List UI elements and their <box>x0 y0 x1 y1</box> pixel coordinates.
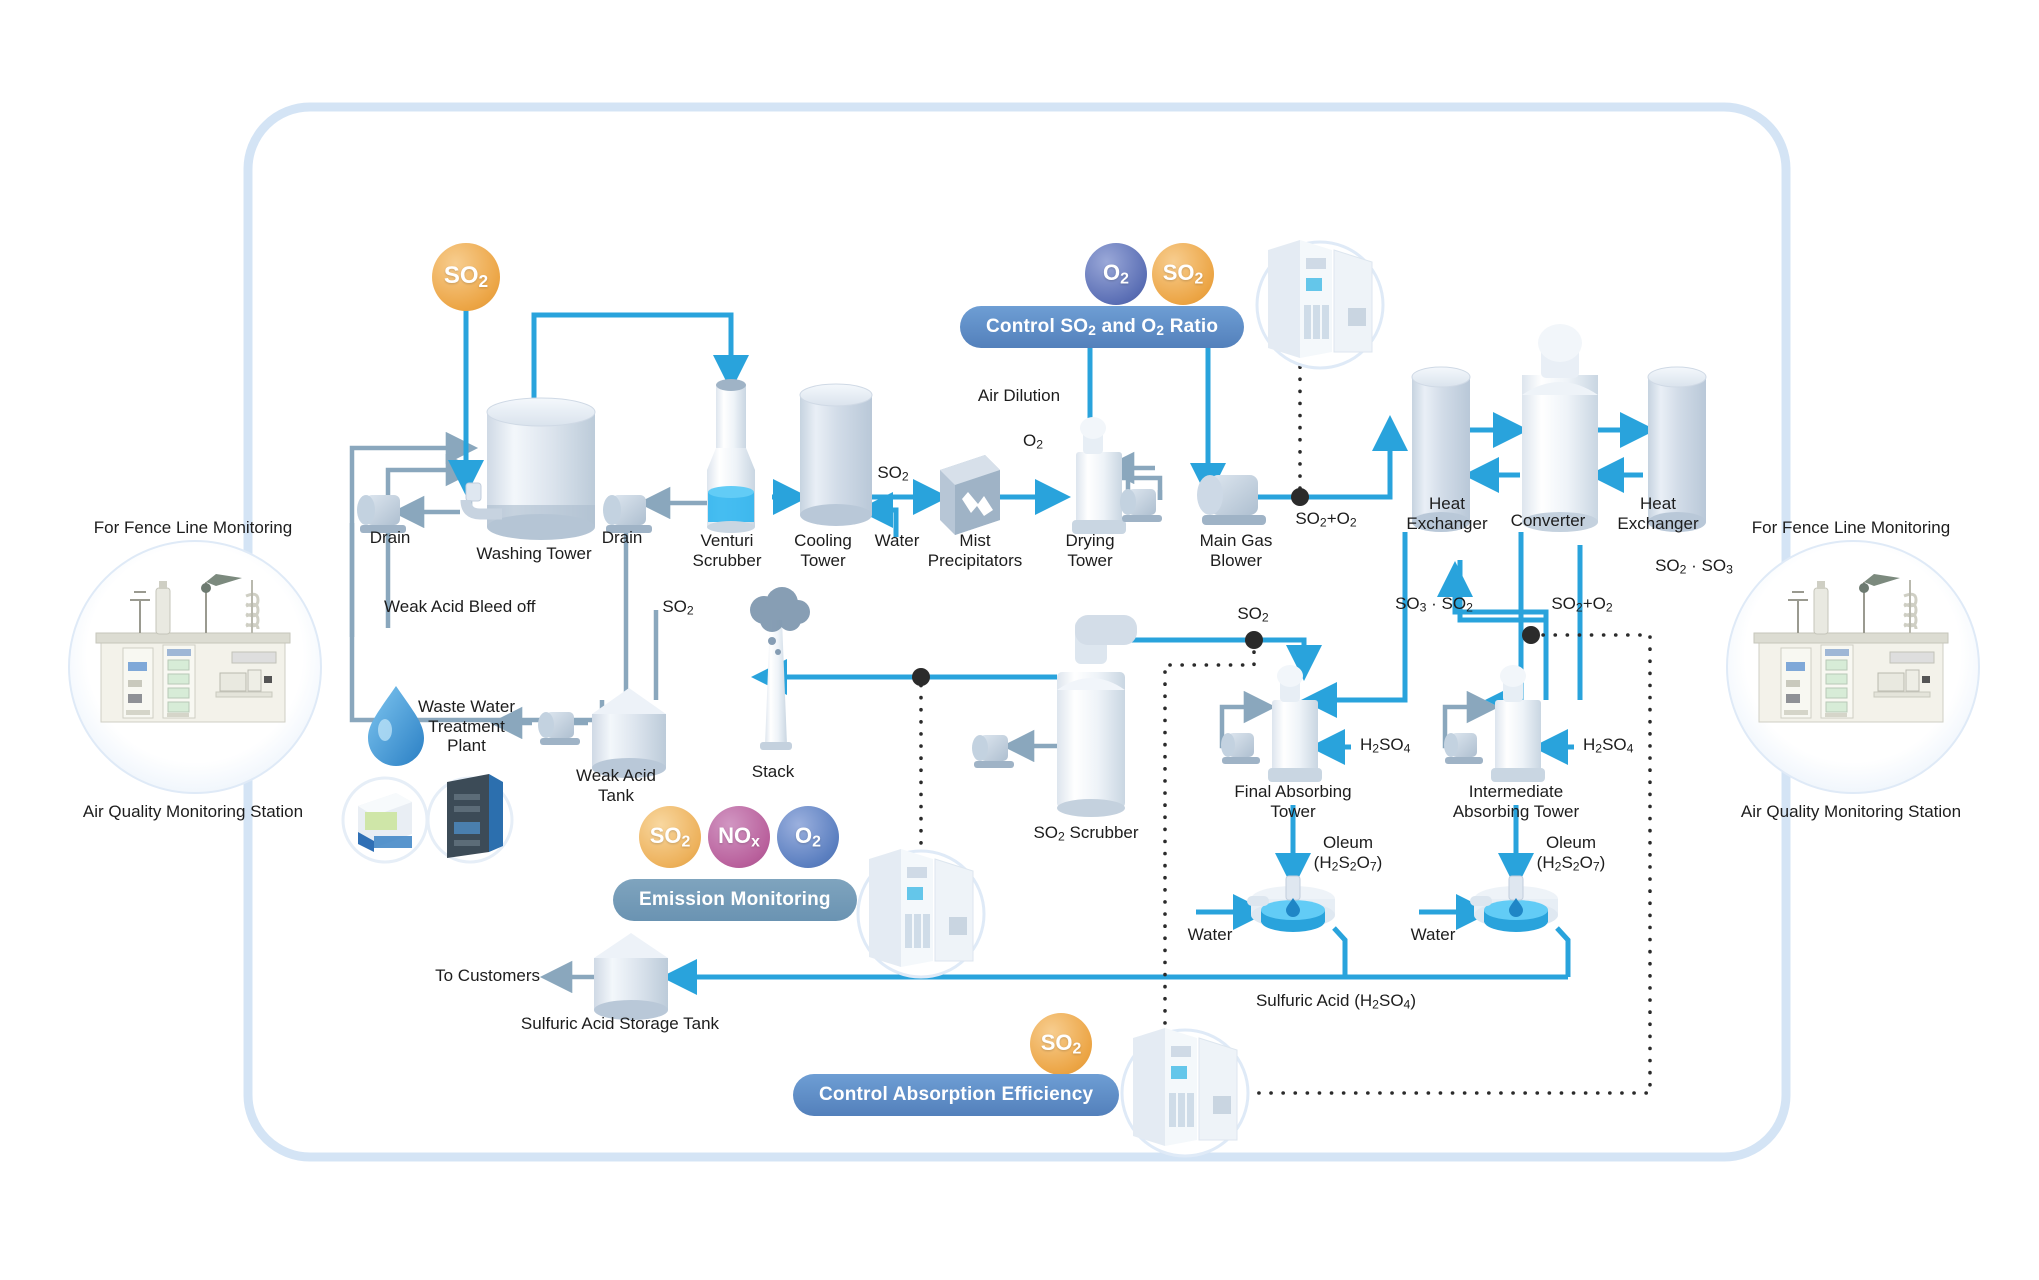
station-left: For Fence Line Monitoring <box>68 540 318 790</box>
station-left-top-label: For Fence Line Monitoring <box>68 518 318 538</box>
drying-tower-body <box>1072 417 1126 534</box>
label-so2-scrubber: SO2 Scrubber <box>1033 823 1138 844</box>
final-absorbing-tower-body <box>1268 665 1322 782</box>
pill-control-absorption-efficiency-label: Control Absorption Efficiency <box>819 1084 1093 1106</box>
label-o2-air-dilution: O2 <box>1023 431 1043 452</box>
gas-bubble-emission-o2: O2 <box>777 806 839 868</box>
so2-scrubber-pump <box>972 735 1014 768</box>
label-venturi-scrubber: Venturi Scrubber <box>693 531 762 570</box>
label-water-intermediate: Water <box>1411 925 1456 945</box>
label-to-customers: To Customers <box>435 966 540 986</box>
label-mist-precipitators: Mist Precipitators <box>928 531 1022 570</box>
gas-bubble-emission-nox: NOx <box>708 806 770 868</box>
gas-bubble-so2-inlet: SO2 <box>432 243 500 311</box>
gas-bubble-ratio-o2: O2 <box>1085 243 1147 305</box>
gas-bubble-emission-so2-label: SO2 <box>650 823 691 851</box>
final-absorbing-tower-pump <box>1221 733 1260 764</box>
gas-bubble-absorption-so2: SO2 <box>1030 1013 1092 1075</box>
label-so2-to-weak-acid: SO2 <box>662 597 693 618</box>
washing-tower-body <box>466 398 595 540</box>
wastewater-analyzer-icon <box>343 778 427 862</box>
main-gas-blower-body <box>1197 475 1266 525</box>
gas-bubble-ratio-so2: SO2 <box>1152 243 1214 305</box>
label-intermediate-absorbing-tower: Intermediate Absorbing Tower <box>1453 782 1579 821</box>
label-stack: Stack <box>752 762 795 782</box>
label-cooling-tower: Cooling Tower <box>794 531 852 570</box>
acid-diluter-final <box>1247 876 1335 932</box>
gas-bubble-emission-o2-label: O2 <box>795 823 821 851</box>
sulfuric-acid-storage-tank-body <box>594 933 668 1020</box>
label-air-dilution: Air Dilution <box>978 386 1060 406</box>
acid-diluter-intermediate <box>1470 876 1558 932</box>
station-right: For Fence Line Monitoring <box>1726 540 1976 790</box>
drying-tower-pump <box>1120 489 1162 522</box>
wastewater-controller-icon <box>428 774 512 862</box>
station-left-bottom-label: Air Quality Monitoring Station <box>68 802 318 822</box>
so2-scrubber-body <box>1057 615 1137 817</box>
gas-bubble-ratio-o2-label: O2 <box>1103 260 1129 288</box>
label-water-to-cooling: Water <box>875 531 920 551</box>
label-heat-exchanger-right: Heat Exchanger <box>1617 494 1698 533</box>
label-water-final: Water <box>1188 925 1233 945</box>
pill-emission-monitoring[interactable]: Emission Monitoring <box>613 879 857 921</box>
label-so3-so2: SO3 · SO2 <box>1395 594 1473 615</box>
stack-body <box>750 587 810 750</box>
label-final-absorbing-tower: Final Absorbing Tower <box>1234 782 1351 821</box>
label-h2so4-final: H2SO4 <box>1360 735 1410 756</box>
label-oleum-final: Oleum (H2S2O7) <box>1314 833 1383 873</box>
label-washing-tower: Washing Tower <box>476 544 591 564</box>
label-converter: Converter <box>1511 511 1586 531</box>
analyzer-cabinet-ratio <box>1257 240 1383 368</box>
station-right-illustration <box>1726 540 1976 790</box>
venturi-scrubber-body <box>707 379 755 533</box>
pill-control-so2-o2-ratio-label: Control SO2 and O2 Ratio <box>986 316 1218 338</box>
label-weak-acid-tank: Weak Acid Tank <box>576 766 656 805</box>
gas-bubble-ratio-so2-label: SO2 <box>1163 260 1204 288</box>
gas-bubble-emission-so2: SO2 <box>639 806 701 868</box>
water-drop-icon <box>368 686 424 766</box>
label-so2-plus-o2-return: SO2+O2 <box>1551 594 1612 615</box>
label-drying-tower: Drying Tower <box>1065 531 1114 570</box>
pill-control-absorption-efficiency[interactable]: Control Absorption Efficiency <box>793 1074 1119 1116</box>
pill-control-so2-o2-ratio[interactable]: Control SO2 and O2 Ratio <box>960 306 1244 348</box>
intermediate-absorbing-tower-pump <box>1444 733 1483 764</box>
label-drain-1: Drain <box>370 528 411 548</box>
label-drain-2: Drain <box>602 528 643 548</box>
cooling-tower-body <box>800 384 872 526</box>
analyzer-cabinet-emission <box>858 849 984 977</box>
label-main-gas-blower: Main Gas Blower <box>1200 531 1273 570</box>
label-so2-to-cooling: SO2 <box>877 463 908 484</box>
gas-bubble-emission-nox-label: NOx <box>718 823 760 851</box>
label-sulfuric-acid-line: Sulfuric Acid (H2SO4) <box>1256 991 1416 1012</box>
intermediate-absorbing-tower-body <box>1491 665 1545 782</box>
label-so2-so3: SO2 · SO3 <box>1655 556 1733 577</box>
label-heat-exchanger-left: Heat Exchanger <box>1406 494 1487 533</box>
label-oleum-intermediate: Oleum (H2S2O7) <box>1537 833 1606 873</box>
mist-precipitators-body <box>940 455 1000 535</box>
station-right-top-label: For Fence Line Monitoring <box>1726 518 1976 538</box>
label-weak-acid-bleed-off: Weak Acid Bleed off <box>384 597 536 617</box>
gas-bubble-absorption-so2-label: SO2 <box>1041 1030 1082 1058</box>
label-so2-to-scrubber: SO2 <box>1237 604 1268 625</box>
station-right-bottom-label: Air Quality Monitoring Station <box>1726 802 1976 822</box>
label-so2-plus-o2-blower: SO2+O2 <box>1295 509 1356 530</box>
weak-acid-tank-pump <box>538 712 580 745</box>
converter-body <box>1522 324 1598 532</box>
pill-emission-monitoring-label: Emission Monitoring <box>639 889 831 911</box>
analyzer-cabinet-absorption <box>1122 1028 1248 1156</box>
station-left-illustration <box>68 540 318 790</box>
label-h2so4-intermediate: H2SO4 <box>1583 735 1633 756</box>
process-flow-diagram: For Fence Line Monitoring <box>0 0 2039 1280</box>
label-sulfuric-acid-storage-tank: Sulfuric Acid Storage Tank <box>521 1014 719 1034</box>
label-waste-water-treatment-plant: Waste Water Treatment Plant <box>418 697 515 756</box>
gas-bubble-so2-inlet-label: SO2 <box>444 262 488 292</box>
